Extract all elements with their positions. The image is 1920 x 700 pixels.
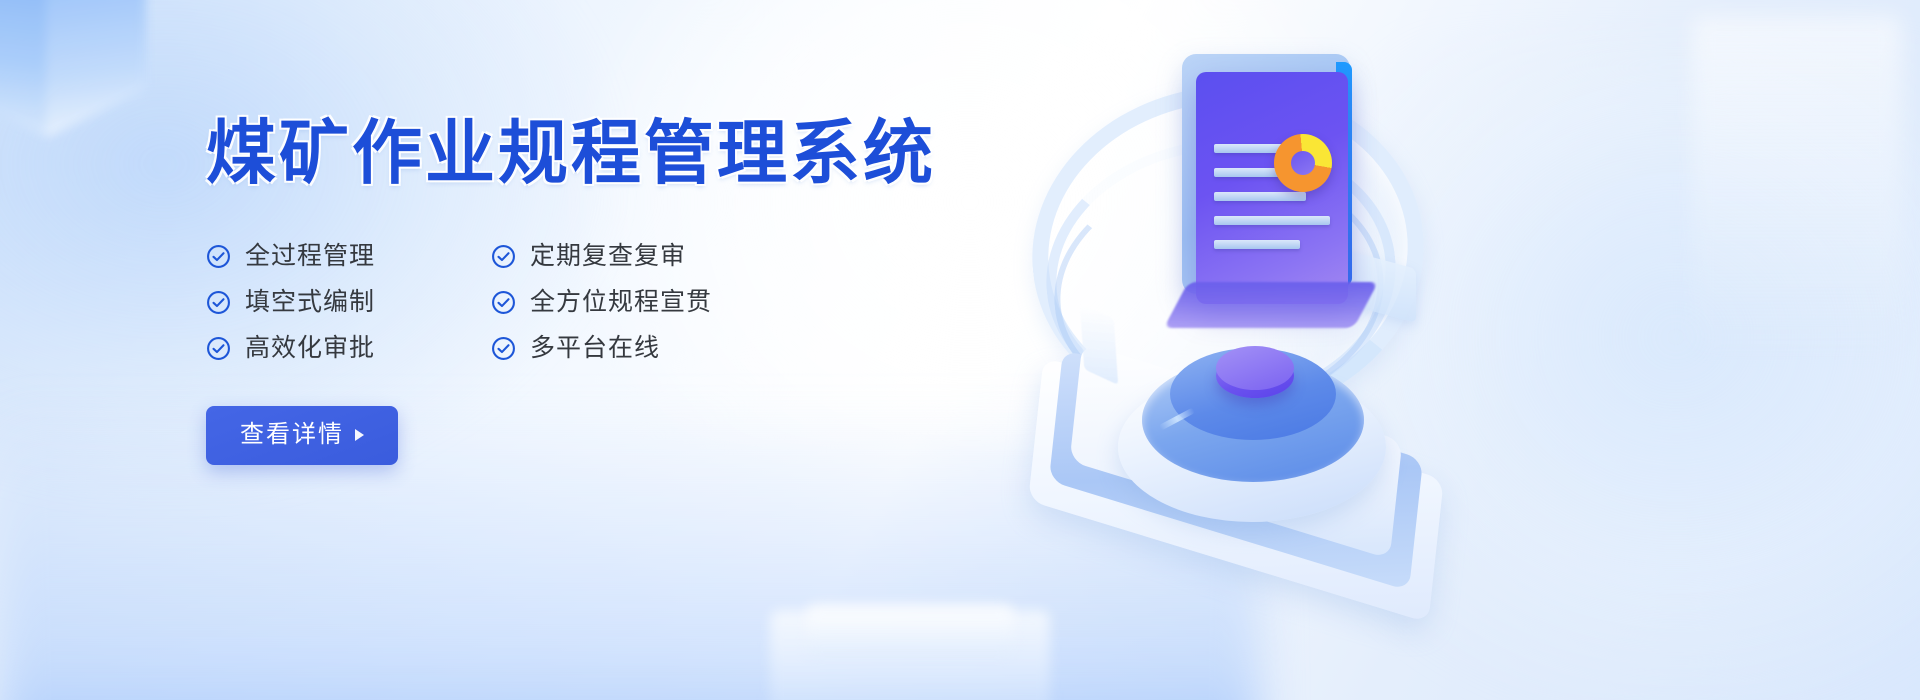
cube-face-right <box>46 0 146 138</box>
cube-face-top <box>0 0 146 10</box>
feature-item-0: 全过程管理 <box>206 244 491 269</box>
feature-label: 全方位规程宣贯 <box>530 290 712 315</box>
card-text-line <box>1214 192 1306 201</box>
check-circle-icon <box>206 244 231 269</box>
decorative-slab-bottom <box>770 610 1050 700</box>
feature-label: 定期复查复审 <box>530 244 686 269</box>
hero-banner: 煤矿作业规程管理系统 全过程管理 定期复查复审 <box>0 0 1920 700</box>
banner-content: 煤矿作业规程管理系统 全过程管理 定期复查复审 <box>206 118 1006 465</box>
feature-item-2: 填空式编制 <box>206 290 491 315</box>
feature-item-4: 高效化审批 <box>206 336 491 361</box>
feature-item-1: 定期复查复审 <box>491 244 1006 269</box>
card-text-line <box>1214 216 1330 225</box>
feature-item-5: 多平台在线 <box>491 336 1006 361</box>
check-circle-icon <box>491 336 516 361</box>
check-circle-icon <box>206 336 231 361</box>
feature-list: 全过程管理 定期复查复审 填空式编制 <box>206 244 1006 361</box>
center-hub-cylinder-top <box>1216 346 1294 390</box>
feature-label: 高效化审批 <box>245 336 375 361</box>
check-circle-icon <box>491 290 516 315</box>
donut-chart-icon <box>1274 134 1332 192</box>
view-details-button[interactable]: 查看详情 <box>206 406 398 465</box>
feature-label: 全过程管理 <box>245 244 375 269</box>
feature-item-3: 全方位规程宣贯 <box>491 290 1006 315</box>
document-card <box>1196 72 1348 304</box>
hero-illustration <box>990 20 1550 580</box>
check-circle-icon <box>491 244 516 269</box>
feature-label: 多平台在线 <box>530 336 660 361</box>
card-text-line <box>1214 240 1300 249</box>
check-circle-icon <box>206 290 231 315</box>
decorative-slab-right <box>1692 16 1902 346</box>
decorative-slab-bottom-top <box>806 604 1014 656</box>
feature-label: 填空式编制 <box>245 290 375 315</box>
view-details-label: 查看详情 <box>240 423 344 447</box>
triangle-right-icon <box>355 429 364 441</box>
page-title: 煤矿作业规程管理系统 <box>206 118 1006 188</box>
cube-face-left <box>0 0 48 138</box>
decorative-cube-icon <box>0 0 178 160</box>
